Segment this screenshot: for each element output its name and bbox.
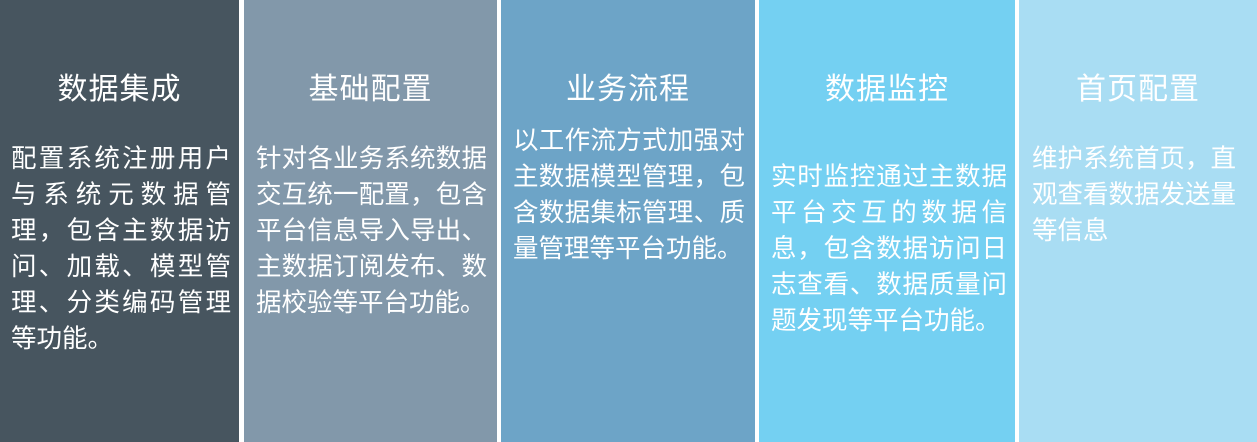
feature-panel-business-process[interactable]: 业务流程 以工作流方式加强对主数据模型管理，包含数据集标管理、质量管理等平台功能…	[501, 0, 755, 442]
panel-description: 维护系统首页，直观查看数据发送量等信息	[1032, 141, 1245, 249]
panel-description: 针对各业务系统数据交互统一配置，包含平台信息导入导出、主数据订阅发布、数据校验等…	[256, 141, 487, 321]
feature-panel-group: 数据集成 配置系统注册用户与系统元数据管理，包含主数据访问、加载、模型管理、分类…	[0, 0, 1257, 442]
feature-panel-basic-configuration[interactable]: 基础配置 针对各业务系统数据交互统一配置，包含平台信息导入导出、主数据订阅发布、…	[244, 0, 497, 442]
feature-panel-homepage-configuration[interactable]: 首页配置 维护系统首页，直观查看数据发送量等信息	[1019, 0, 1257, 442]
panel-description: 配置系统注册用户与系统元数据管理，包含主数据访问、加载、模型管理、分类编码管理等…	[11, 141, 231, 357]
panel-title: 业务流程	[501, 72, 755, 108]
panel-title: 基础配置	[244, 72, 497, 108]
panel-title: 数据集成	[0, 72, 239, 108]
panel-title: 首页配置	[1019, 72, 1257, 108]
feature-panel-data-monitoring[interactable]: 数据监控 实时监控通过主数据平台交互的数据信息，包含数据访问日志查看、数据质量问…	[759, 0, 1015, 442]
feature-panel-data-integration[interactable]: 数据集成 配置系统注册用户与系统元数据管理，包含主数据访问、加载、模型管理、分类…	[0, 0, 239, 442]
panel-title: 数据监控	[759, 72, 1015, 108]
panel-description: 实时监控通过主数据平台交互的数据信息，包含数据访问日志查看、数据质量问题发现等平…	[771, 159, 1007, 339]
panel-description: 以工作流方式加强对主数据模型管理，包含数据集标管理、质量管理等平台功能。	[513, 123, 745, 267]
